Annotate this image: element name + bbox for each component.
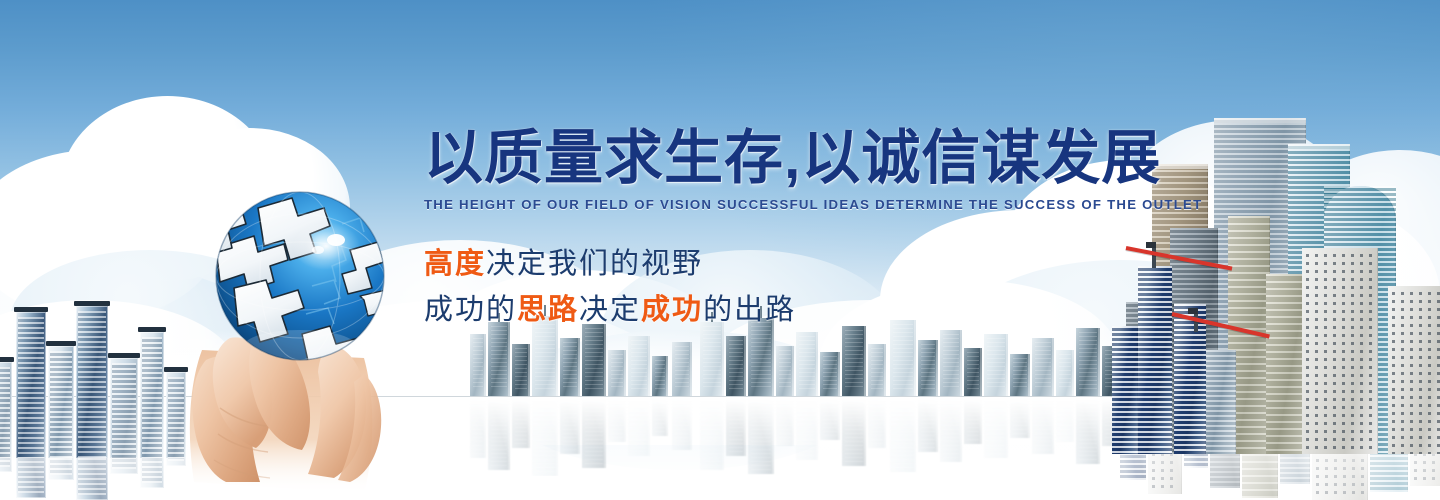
tagline-2-part3: 的出路 — [703, 294, 796, 326]
olive-tower-2 — [1266, 274, 1304, 454]
grid-window-tower-2 — [1388, 286, 1440, 454]
headline: 以质量求生存,以诚信谋发展 — [424, 128, 1144, 188]
tagline-2-accent2: 成功 — [641, 294, 703, 326]
construction-crane-lower — [1170, 306, 1280, 332]
grid-window-tower — [1302, 248, 1378, 454]
tagline-2-part1: 成功的 — [424, 294, 517, 326]
corporate-hero-banner: 以质量求生存,以诚信谋发展 THE HEIGHT OF OUR FIELD OF… — [0, 0, 1440, 500]
tagline-2-part2: 决定 — [579, 294, 641, 326]
tagline-1-rest: 决定我们的视野 — [486, 248, 703, 280]
english-subtitle: THE HEIGHT OF OUR FIELD OF VISION SUCCES… — [424, 197, 1144, 212]
hand-holding-globe — [168, 182, 428, 500]
tagline-line-2: 成功的思路决定成功的出路 — [424, 288, 1144, 332]
tagline-2-accent1: 思路 — [517, 294, 579, 326]
navy-tower-c — [1112, 326, 1138, 454]
right-skyline — [1116, 80, 1440, 500]
tagline-line-1: 高度决定我们的视野 — [424, 242, 1144, 286]
banner-copy: 以质量求生存,以诚信谋发展 THE HEIGHT OF OUR FIELD OF… — [424, 128, 1144, 332]
puzzle-globe-icon — [214, 190, 386, 362]
low-slab — [1206, 350, 1236, 454]
tagline-1-accent: 高度 — [424, 248, 486, 280]
